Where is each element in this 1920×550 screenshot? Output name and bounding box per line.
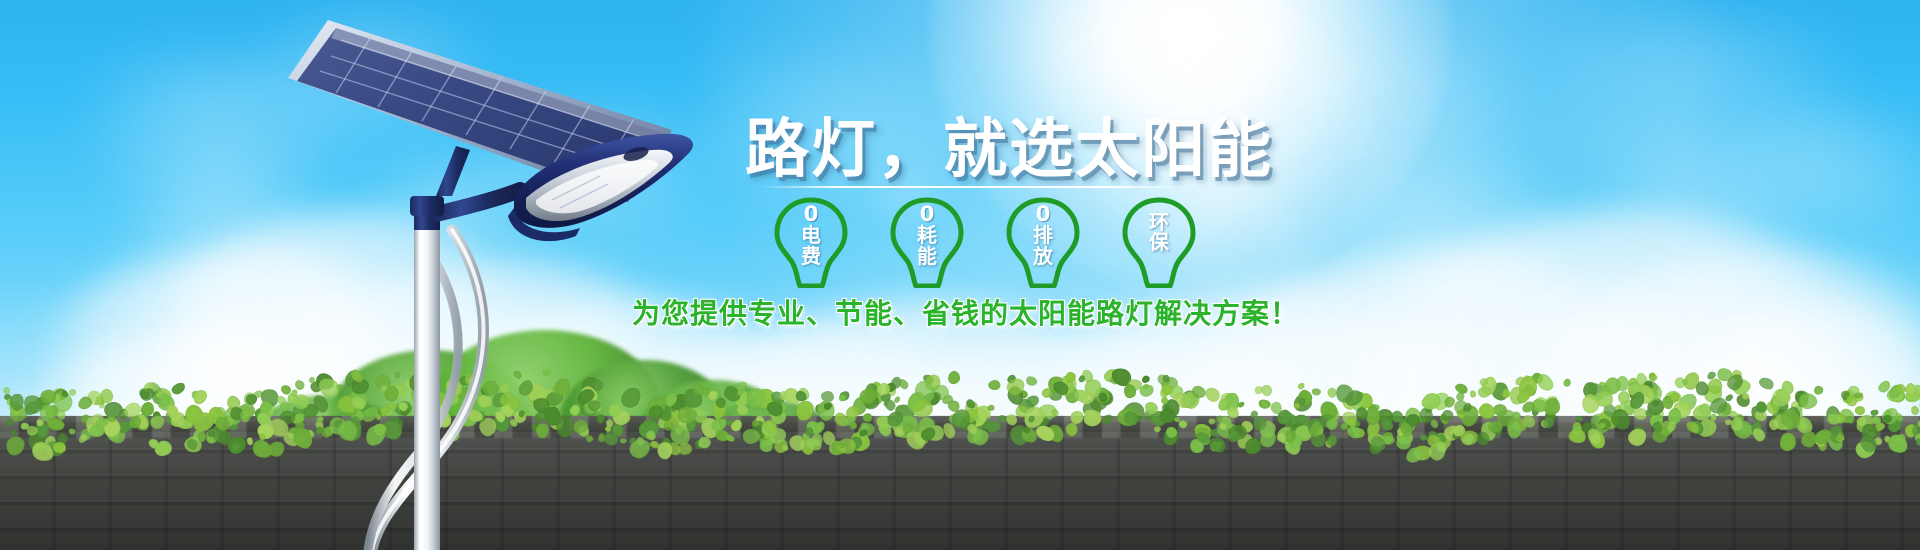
feature-badge: 0电费 <box>770 196 852 288</box>
feature-badge-text: 0排放 <box>1002 204 1084 266</box>
feature-badge-text: 环保 <box>1118 212 1200 253</box>
feature-badge: 0耗能 <box>886 196 968 288</box>
feature-badge-text: 0耗能 <box>886 204 968 266</box>
feature-badge: 0排放 <box>1002 196 1084 288</box>
solar-street-light-banner: 路灯，就选太阳能 0电费0耗能0排放环保 为您提供专业、节能、省钱的太阳能路灯解… <box>0 0 1920 550</box>
feature-badge-word: 排放 <box>1002 225 1084 266</box>
cloud <box>220 20 520 130</box>
cloud <box>90 170 350 290</box>
title-underline-rule <box>760 186 1190 188</box>
vine-leaf <box>5 398 13 407</box>
feature-badge-row: 0电费0耗能0排放环保 <box>770 196 1200 288</box>
cloud <box>1290 170 1590 300</box>
feature-badge-word: 电费 <box>770 225 852 266</box>
brick-wall <box>0 422 1920 550</box>
banner-headline: 路灯，就选太阳能 <box>745 98 1273 190</box>
banner-subline: 为您提供专业、节能、省钱的太阳能路灯解决方案！ <box>632 292 1299 332</box>
cloud <box>1560 150 1840 270</box>
feature-badge: 环保 <box>1118 196 1200 288</box>
vine-leaf <box>3 393 12 402</box>
feature-badge-word: 环保 <box>1118 212 1200 253</box>
feature-badge-text: 0电费 <box>770 204 852 266</box>
wall-brick-joints-texture <box>0 422 1920 550</box>
wall-tile-ridge <box>0 416 1920 438</box>
vine-leaf <box>2 385 12 395</box>
feature-badge-word: 耗能 <box>886 225 968 266</box>
cloud <box>330 160 570 270</box>
